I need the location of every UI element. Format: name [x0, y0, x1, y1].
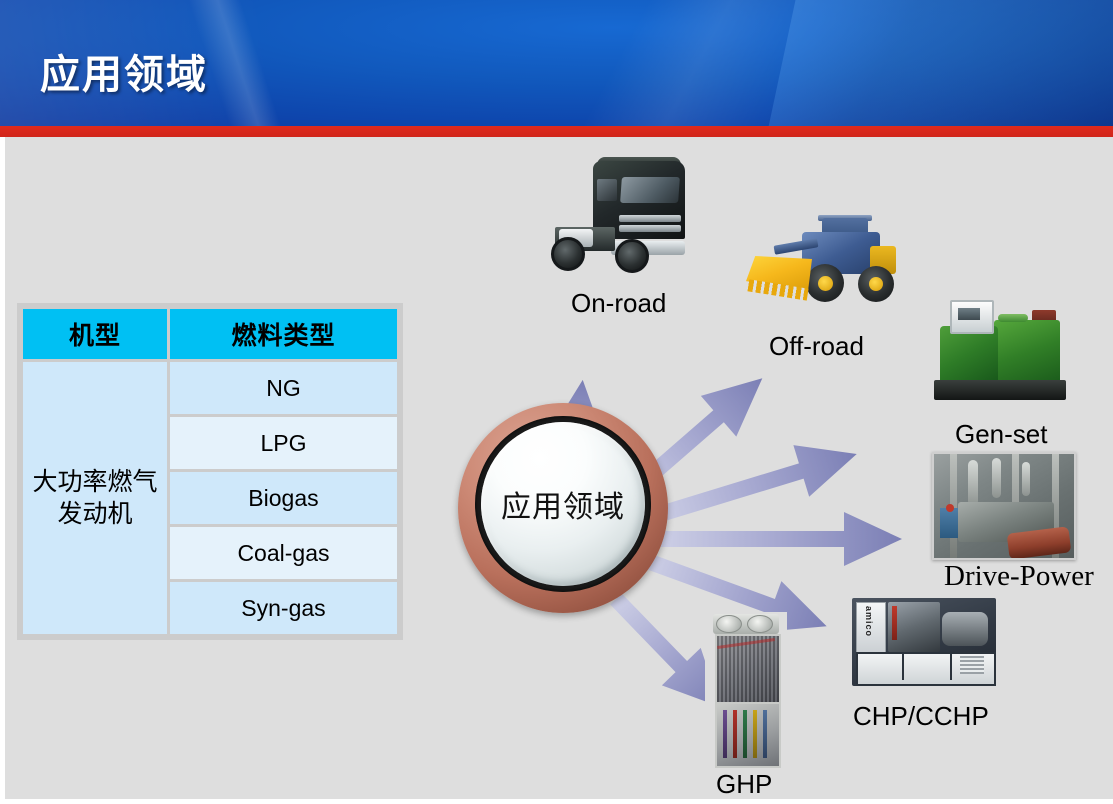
- chp-engine-wiring: [892, 606, 897, 640]
- label-drive-power: Drive-Power: [944, 560, 1094, 593]
- generator-set-photo: [928, 296, 1073, 410]
- table-cell-fuel: LPG: [170, 417, 397, 469]
- hub-face: 应用领域: [481, 422, 645, 586]
- ghp-component: [723, 710, 727, 758]
- slide: 应用领域 机型 燃料类型 大功率燃气发动机 NG LPG Biogas Coal…: [0, 0, 1113, 804]
- truck-windshield: [620, 177, 680, 203]
- table-cell-fuel: NG: [170, 362, 397, 414]
- hub-label: 应用领域: [501, 482, 625, 526]
- genset-panel-display: [958, 308, 980, 320]
- truck-wheel: [551, 237, 585, 271]
- genset-control-panel: [950, 300, 994, 334]
- ghp-component: [763, 710, 767, 758]
- table-cell-fuel: Coal-gas: [170, 527, 397, 579]
- label-gen-set: Gen-set: [955, 419, 1048, 450]
- table-header-fuel: 燃料类型: [170, 309, 397, 359]
- chp-module-photo: amico: [848, 590, 1000, 700]
- ghp-component: [753, 710, 757, 758]
- table-header-row: 机型 燃料类型: [23, 309, 397, 359]
- chp-base-divider: [950, 654, 952, 680]
- genset-alternator: [940, 326, 998, 384]
- table-row: 大功率燃气发动机 NG: [23, 362, 397, 414]
- genset-engine: [994, 320, 1060, 384]
- engine-red-valve: [946, 504, 954, 512]
- ghp-service-compartment: [715, 702, 781, 768]
- chp-base-divider: [902, 654, 904, 680]
- header-red-rule: [0, 126, 1113, 137]
- truck-wheel: [615, 239, 649, 273]
- truck-photo: [545, 155, 710, 295]
- label-ghp: GHP: [716, 769, 772, 800]
- header-gloss-right: [734, 0, 1113, 126]
- label-chp-cchp: CHP/CCHP: [853, 701, 989, 732]
- central-hub: 应用领域: [458, 403, 668, 613]
- ghp-fan: [747, 615, 773, 633]
- chp-engine: [888, 602, 940, 652]
- label-off-road: Off-road: [769, 331, 864, 362]
- table-cell-fuel: Biogas: [170, 472, 397, 524]
- wheel-loader-photo: [740, 208, 912, 318]
- slide-header: 应用领域: [0, 0, 1113, 126]
- loader-wheel-rim: [869, 277, 883, 291]
- chp-brand-text: amico: [864, 606, 874, 637]
- chp-vent-louvre: [960, 656, 984, 674]
- engine-pipe: [968, 460, 978, 506]
- engine-blue-unit: [940, 508, 958, 538]
- page-title: 应用领域: [40, 42, 208, 100]
- label-on-road: On-road: [571, 288, 666, 319]
- table-cell-fuel: Syn-gas: [170, 582, 397, 634]
- engine-pipe: [1022, 462, 1030, 496]
- engine-pipe: [992, 458, 1001, 498]
- ghp-component: [743, 710, 747, 758]
- engine-fuel-table: 机型 燃料类型 大功率燃气发动机 NG LPG Biogas Coal-gas …: [20, 306, 400, 637]
- table-header-model: 机型: [23, 309, 167, 359]
- gas-heat-pump-photo: [705, 612, 787, 770]
- ghp-component: [733, 710, 737, 758]
- truck-side-window: [597, 179, 617, 201]
- genset-skid-base: [934, 380, 1066, 400]
- industrial-engine-photo: [932, 452, 1076, 560]
- genset-exhaust-pipe: [998, 314, 1028, 322]
- loader-wheel-rim: [818, 276, 833, 291]
- truck-grille-bar: [619, 225, 681, 232]
- ghp-fan: [716, 615, 742, 633]
- table-cell-model: 大功率燃气发动机: [23, 362, 167, 634]
- chp-generator: [942, 612, 988, 646]
- truck-grille-bar: [619, 215, 681, 222]
